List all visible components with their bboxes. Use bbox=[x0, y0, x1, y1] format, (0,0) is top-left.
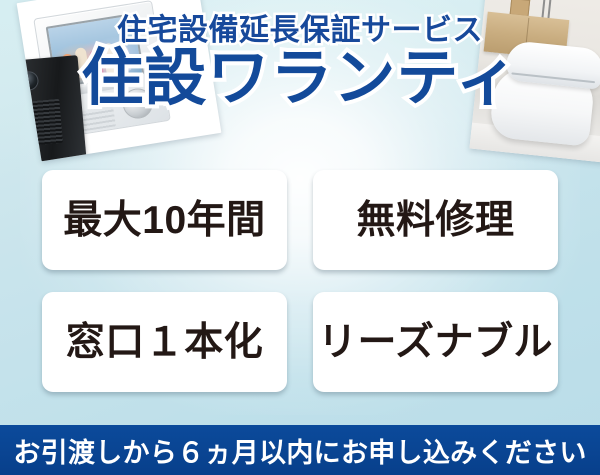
feature-label: 最大10年間 bbox=[63, 201, 265, 240]
feature-box-free-repair: 無料修理 bbox=[313, 170, 558, 270]
service-subtitle: 住宅設備延長保証サービス bbox=[0, 14, 600, 48]
feature-box-reasonable: リーズナブル bbox=[313, 292, 558, 392]
cta-text: お引渡しから６ヵ月以内にお申し込みください bbox=[13, 431, 586, 470]
feature-label: 窓口１本化 bbox=[66, 323, 264, 362]
feature-box-single-contact: 窓口１本化 bbox=[42, 292, 287, 392]
promo-banner: 住宅設備延長保証サービス 住設ワランティ 最大10年間 無料修理 窓口１本化 リ… bbox=[0, 0, 600, 475]
header-block: 住宅設備延長保証サービス 住設ワランティ bbox=[0, 14, 600, 113]
feature-label: 無料修理 bbox=[356, 201, 514, 240]
feature-label: リーズナブル bbox=[318, 323, 553, 362]
page-title: 住設ワランティ bbox=[0, 46, 600, 113]
feature-box-max-years: 最大10年間 bbox=[42, 170, 287, 270]
feature-grid: 最大10年間 無料修理 窓口１本化 リーズナブル bbox=[42, 170, 558, 392]
cta-banner: お引渡しから６ヵ月以内にお申し込みください bbox=[0, 425, 600, 475]
